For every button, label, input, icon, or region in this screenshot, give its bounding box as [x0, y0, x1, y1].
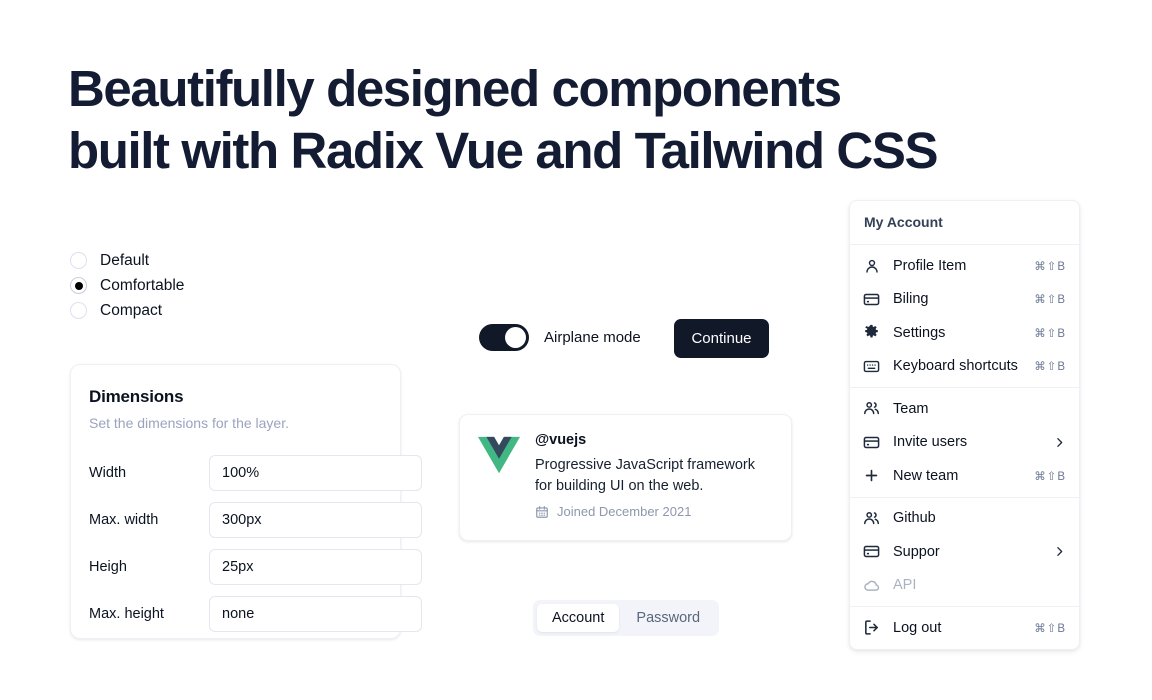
menu-item-label: Profile Item: [893, 258, 1034, 274]
menu-item-shortcut: ⌘⇧B: [1034, 469, 1066, 483]
radio-option-label: Compact: [100, 302, 162, 320]
radio-option-label: Comfortable: [100, 277, 184, 295]
plus-icon: [863, 467, 880, 484]
page-title: Beautifully designed components built wi…: [68, 58, 1028, 182]
user-icon: [863, 257, 880, 274]
dimensions-title: Dimensions: [89, 387, 382, 407]
dimensions-field-label: Heigh: [89, 559, 209, 575]
gear-icon: [863, 324, 880, 341]
menu-item-label: Team: [893, 401, 1066, 417]
menu-separator: [850, 387, 1079, 388]
vuejs-hover-card: @vuejs Progressive JavaScript framework …: [459, 414, 792, 541]
dimensions-card: Dimensions Set the dimensions for the la…: [70, 364, 401, 639]
tab-password[interactable]: Password: [621, 604, 715, 632]
menu-item-invite-users[interactable]: Invite users: [850, 426, 1079, 460]
airplane-mode-label: Airplane mode: [544, 329, 641, 346]
menu-item-api: API: [850, 569, 1079, 603]
hover-card-joined: Joined December 2021: [535, 504, 773, 519]
radio-option-comfortable[interactable]: Comfortable: [70, 273, 184, 298]
radio-option-default[interactable]: Default: [70, 248, 184, 273]
hover-card-description: Progressive JavaScript framework for bui…: [535, 455, 773, 496]
dimensions-field-input[interactable]: [209, 455, 422, 491]
hover-card-joined-text: Joined December 2021: [557, 504, 691, 519]
dimensions-field-list: WidthMax. widthHeighMax. height: [89, 449, 382, 637]
menu-item-shortcut: ⌘⇧B: [1034, 326, 1066, 340]
chevron-right-icon: [1053, 436, 1066, 449]
dimensions-field-row: Width: [89, 449, 382, 496]
menu-item-label: New team: [893, 468, 1034, 484]
menu-item-label: Biling: [893, 291, 1034, 307]
dimensions-subtitle: Set the dimensions for the layer.: [89, 415, 382, 431]
settings-tabs: AccountPassword: [533, 600, 719, 636]
menu-item-profile-item[interactable]: Profile Item⌘⇧B: [850, 249, 1079, 283]
dimensions-field-label: Max. width: [89, 512, 209, 528]
page-root: Beautifully designed components built wi…: [0, 0, 1152, 700]
page-title-line-2: built with Radix Vue and Tailwind CSS: [68, 120, 1028, 182]
calendar-icon: [535, 505, 549, 519]
menu-item-settings[interactable]: Settings⌘⇧B: [850, 316, 1079, 350]
menu-item-log-out[interactable]: Log out⌘⇧B: [850, 611, 1079, 645]
keyboard-icon: [863, 358, 880, 375]
menu-item-github[interactable]: Github: [850, 502, 1079, 536]
menu-item-label: Invite users: [893, 434, 1053, 450]
density-radio-group: DefaultComfortableCompact: [70, 248, 184, 323]
menu-separator: [850, 244, 1079, 245]
menu-item-label: Suppor: [893, 544, 1053, 560]
users-icon: [863, 510, 880, 527]
menu-item-keyboard-shortcuts[interactable]: Keyboard shortcuts⌘⇧B: [850, 350, 1079, 384]
dimensions-field-row: Max. width: [89, 496, 382, 543]
hover-card-handle: @vuejs: [535, 432, 773, 448]
vuejs-logo-icon: [478, 434, 520, 476]
tab-account[interactable]: Account: [537, 604, 619, 632]
card-icon: [863, 543, 880, 560]
airplane-mode-switch[interactable]: [479, 324, 529, 351]
dimensions-field-label: Width: [89, 465, 209, 481]
dimensions-field-input[interactable]: [209, 596, 422, 632]
dimensions-field-input[interactable]: [209, 549, 422, 585]
menu-separator: [850, 497, 1079, 498]
menu-item-shortcut: ⌘⇧B: [1034, 621, 1066, 635]
airplane-mode-row: Airplane mode: [479, 324, 641, 351]
account-dropdown-menu: My Account Profile Item⌘⇧BBiling⌘⇧BSetti…: [849, 200, 1080, 650]
menu-separator: [850, 606, 1079, 607]
menu-item-label: Settings: [893, 325, 1034, 341]
switch-knob: [505, 327, 526, 348]
menu-item-new-team[interactable]: New team⌘⇧B: [850, 459, 1079, 493]
menu-item-biling[interactable]: Biling⌘⇧B: [850, 283, 1079, 317]
chevron-right-icon: [1053, 545, 1066, 558]
dimensions-field-label: Max. height: [89, 606, 209, 622]
continue-button[interactable]: Continue: [674, 319, 769, 358]
radio-indicator[interactable]: [70, 277, 87, 294]
logout-icon: [863, 619, 880, 636]
card-icon: [863, 291, 880, 308]
menu-item-label: API: [893, 577, 1066, 593]
hover-card-body: @vuejs Progressive JavaScript framework …: [535, 432, 773, 523]
menu-item-suppor[interactable]: Suppor: [850, 535, 1079, 569]
dimensions-field-row: Max. height: [89, 590, 382, 637]
radio-option-compact[interactable]: Compact: [70, 298, 184, 323]
users-icon: [863, 400, 880, 417]
menu-header-label: My Account: [850, 205, 1079, 240]
page-title-line-1: Beautifully designed components: [68, 60, 841, 117]
menu-item-team[interactable]: Team: [850, 392, 1079, 426]
menu-item-label: Github: [893, 510, 1066, 526]
menu-item-label: Log out: [893, 620, 1034, 636]
menu-item-shortcut: ⌘⇧B: [1034, 259, 1066, 273]
menu-item-label: Keyboard shortcuts: [893, 358, 1034, 374]
radio-indicator[interactable]: [70, 302, 87, 319]
card-icon: [863, 434, 880, 451]
radio-indicator[interactable]: [70, 252, 87, 269]
radio-option-label: Default: [100, 252, 149, 270]
cloud-icon: [863, 577, 880, 594]
menu-groups: Profile Item⌘⇧BBiling⌘⇧BSettings⌘⇧BKeybo…: [850, 249, 1079, 645]
dimensions-field-row: Heigh: [89, 543, 382, 590]
menu-item-shortcut: ⌘⇧B: [1034, 359, 1066, 373]
dimensions-field-input[interactable]: [209, 502, 422, 538]
menu-item-shortcut: ⌘⇧B: [1034, 292, 1066, 306]
